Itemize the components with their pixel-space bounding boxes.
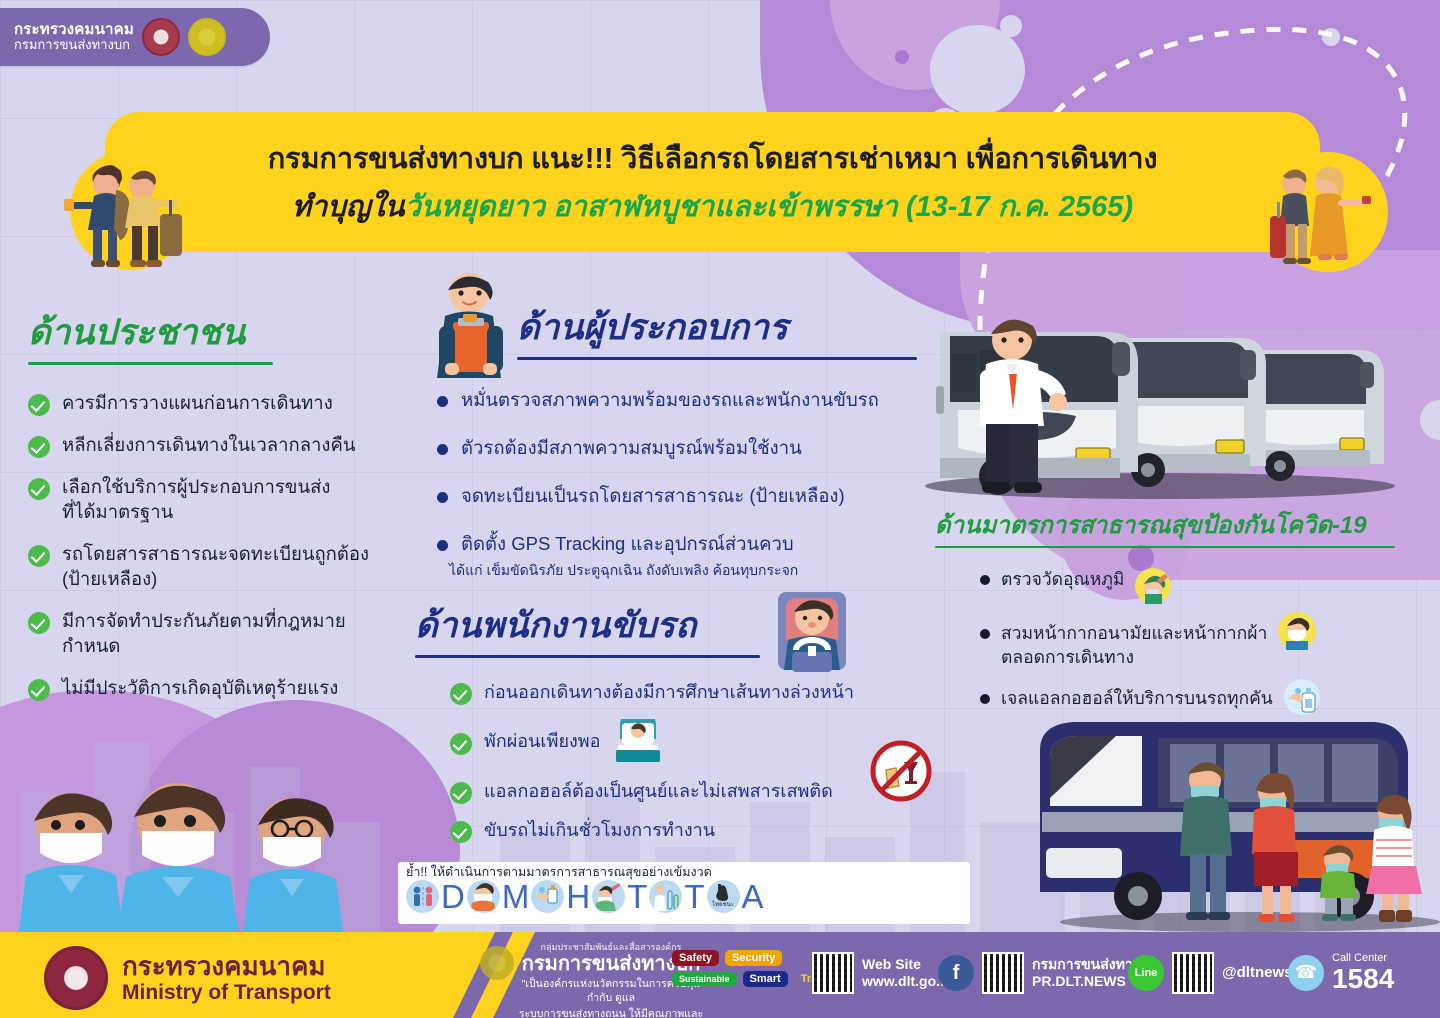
list-item-text: ไม่มีประวัติการเกิดอุบัติเหตุร้ายแรง	[62, 676, 338, 701]
check-icon	[450, 733, 472, 755]
no-alcohol-icon	[870, 740, 932, 802]
list-item: ติดตั้ง GPS Tracking และอุปกรณ์ส่วนควบ	[437, 532, 925, 556]
line-contact[interactable]: Line @dltnews	[1128, 952, 1292, 994]
temperature-check-icon	[1135, 568, 1171, 604]
tag-row-1: Safety Security	[672, 950, 812, 966]
department-seal-icon	[188, 18, 226, 56]
list-item-text: ก่อนออกเดินทางต้องมีการศึกษาเส้นทางล่วงห…	[484, 681, 854, 704]
section-operators-list: หมั่นตรวจสภาพความพร้อมของรถและพนักงานขับ…	[437, 388, 925, 556]
check-icon	[450, 821, 472, 843]
list-item-text: สวมหน้ากากอนามัยและหน้ากากผ้า ตลอดการเดิ…	[1001, 622, 1267, 669]
bullet-icon	[980, 694, 990, 704]
list-item-text: แอลกอฮอล์ต้องเป็นศูนย์และไม่เสพสารเสพติด	[484, 780, 833, 803]
handwash-icon	[531, 880, 564, 913]
dmhtta-letter-h: H	[566, 880, 590, 913]
check-icon	[28, 612, 50, 634]
section-operators: ด้านผู้ประกอบการ หมั่นตรวจสภาพความพร้อมข…	[425, 300, 925, 582]
dmhtta-letter-t1: T	[627, 880, 647, 913]
list-item-text: ตัวรถต้องมีสภาพความสมบูรณ์พร้อมใช้งาน	[461, 436, 802, 460]
department-name-th: กรมการขนส่งทางบก	[14, 38, 134, 53]
headline-line-2-black: ทำบุญใน	[292, 191, 405, 223]
list-item-text: รถโดยสารสาธารณะจดทะเบียนถูกต้อง (ป้ายเหล…	[62, 542, 369, 592]
list-item-text: ตรวจวัดอุณหภูมิ	[1001, 568, 1124, 592]
section-covid-underline	[935, 546, 1395, 548]
mask-icon	[467, 880, 500, 913]
sleep-rest-icon	[612, 719, 664, 765]
list-item-text: ขับรถไม่เกินชั่วโมงการทำงาน	[484, 819, 715, 842]
infographic-page: กระทรวงคมนาคม กรมการขนส่งทางบก กรมการขนส…	[0, 0, 1440, 1018]
section-citizens-underline	[28, 362, 273, 365]
list-item-text: เลือกใช้บริการผู้ประกอบการขนส่ง ที่ได้มา…	[62, 475, 330, 525]
bullet-icon	[437, 492, 448, 503]
list-item-text: หมั่นตรวจสภาพความพร้อมของรถและพนักงานขับ…	[461, 388, 879, 412]
section-drivers: ด้านพนักงานขับรถ ก่อนออกเดินทางต้องมีการ…	[415, 598, 955, 857]
dmhtta-letter-d: D	[441, 880, 465, 913]
list-item-text: จดทะเบียนเป็นรถโดยสารสาธารณะ (ป้ายเหลือง…	[461, 484, 845, 508]
section-covid-list: ตรวจวัดอุณหภูมิ สวมหน้ากากอนามัยและหน้าก…	[980, 568, 1415, 715]
website-contact[interactable]: Web Site www.dlt.go.th	[812, 952, 953, 994]
dlt-slogan-line-2: ระบบการขนส่งทางถนน ให้มีคุณภาพและปลอดภัย…	[516, 1007, 706, 1018]
dmhtta-letter-m: M	[502, 880, 530, 913]
list-item: ก่อนออกเดินทางต้องมีการศึกษาเส้นทางล่วงห…	[450, 680, 955, 705]
list-item: หลีกเลี่ยงการเดินทางในเวลากลางคืน	[28, 433, 408, 458]
bullet-icon	[980, 629, 990, 639]
list-item: จดทะเบียนเป็นรถโดยสารสาธารณะ (ป้ายเหลือง…	[437, 484, 925, 508]
check-icon	[28, 679, 50, 701]
list-item: ตรวจวัดอุณหภูมิ	[980, 568, 1415, 604]
dlt-seal-icon	[480, 946, 514, 980]
list-item-text: ติดตั้ง GPS Tracking และอุปกรณ์ส่วนควบ	[461, 532, 794, 556]
list-item: ควรมีการวางแผนก่อนการเดินทาง	[28, 391, 408, 416]
list-item: สวมหน้ากากอนามัยและหน้ากากผ้า ตลอดการเดิ…	[980, 622, 1415, 669]
section-citizens: ด้านประชาชน ควรมีการวางแผนก่อนการเดินทาง…	[28, 305, 408, 718]
tag-sustainable: Sustainable	[672, 972, 737, 986]
line-icon[interactable]: Line	[1128, 955, 1164, 991]
distancing-icon	[406, 880, 439, 913]
list-item: ขับรถไม่เกินชั่วโมงการทำงาน	[450, 818, 955, 843]
list-item: เลือกใช้บริการผู้ประกอบการขนส่ง ที่ได้มา…	[28, 475, 408, 525]
thaichana-label: ไทยชนะ	[712, 902, 734, 908]
tag-security: Security	[725, 950, 782, 966]
section-drivers-title: ด้านพนักงานขับรถ	[415, 598, 955, 653]
section-drivers-underline	[415, 655, 760, 658]
bullet-icon	[437, 444, 448, 455]
list-item: หมั่นตรวจสภาพความพร้อมของรถและพนักงานขับ…	[437, 388, 925, 412]
ministry-name-th: กระทรวงคมนาคม	[14, 21, 134, 38]
check-icon	[28, 436, 50, 458]
background-dot-c	[895, 50, 909, 64]
ministry-of-transport-block: กระทรวงคมนาคม Ministry of Transport	[44, 946, 331, 1010]
check-icon	[450, 782, 472, 804]
facebook-qr-code[interactable]	[982, 952, 1024, 994]
family-boarding-bus-illustration	[1020, 700, 1440, 940]
headline-banner: กรมการขนส่งทางบก แนะ!!! วิธีเลือกรถโดยสา…	[105, 112, 1320, 252]
operators-equipment-note: ได้แก่ เข็มขัดนิรภัย ประตูฉุกเฉิน ถังดับ…	[449, 560, 925, 582]
list-item: รถโดยสารสาธารณะจดทะเบียนถูกต้อง (ป้ายเหล…	[28, 542, 408, 592]
travellers-left-illustration	[38, 152, 188, 274]
list-item-text: ควรมีการวางแผนก่อนการเดินทาง	[62, 391, 333, 416]
thaichana-icon: ไทยชนะ	[707, 880, 740, 913]
section-citizens-title: ด้านประชาชน	[28, 305, 408, 360]
ministry-seal-large-icon	[44, 946, 108, 1010]
list-item: ไม่มีประวัติการเกิดอุบัติเหตุร้ายแรง	[28, 676, 408, 701]
testing-icon	[649, 880, 682, 913]
dlt-vision-tags: Safety Security Sustainable Smart Transp…	[672, 950, 812, 992]
list-item: ตัวรถต้องมีสภาพความสมบูรณ์พร้อมใช้งาน	[437, 436, 925, 460]
wear-mask-icon	[1278, 612, 1316, 650]
masked-people-illustration	[10, 775, 380, 940]
tag-row-2: Sustainable Smart Transport	[672, 971, 812, 987]
bullet-icon	[980, 575, 990, 585]
phone-icon: ☎	[1288, 955, 1324, 991]
ministry-seal-icon	[142, 18, 180, 56]
list-item-text: หลีกเลี่ยงการเดินทางในเวลากลางคืน	[62, 433, 356, 458]
bullet-icon	[437, 396, 448, 407]
check-icon	[28, 545, 50, 567]
facebook-contact[interactable]: f กรมการขนส่งทางบก PR.DLT.NEWS	[938, 952, 1157, 994]
bullet-icon	[437, 540, 448, 551]
dmhtta-letters-row: D M H T T ไทยชนะ A	[406, 880, 962, 913]
list-item: มีการจัดทำประกันภัยตามที่กฎหมาย กำหนด	[28, 609, 408, 659]
dmhtta-letter-a: A	[742, 880, 764, 913]
section-citizens-list: ควรมีการวางแผนก่อนการเดินทาง หลีกเลี่ยงก…	[28, 391, 408, 701]
line-id[interactable]: @dltnews	[1222, 964, 1292, 983]
line-qr-code[interactable]	[1172, 952, 1214, 994]
headline-line-2-green: วันหยุดยาว อาสาฬหบูชาและเข้าพรรษา (13-17…	[404, 191, 1133, 223]
website-qr-code[interactable]	[812, 952, 854, 994]
footer-ministry-en: Ministry of Transport	[122, 981, 331, 1004]
footer-ministry-th: กระทรวงคมนาคม	[122, 952, 331, 981]
section-operators-underline	[517, 357, 917, 360]
travellers-right-illustration	[1252, 158, 1392, 276]
headline-line-1: กรมการขนส่งทางบก แนะ!!! วิธีเลือกรถโดยสา…	[268, 135, 1158, 181]
facebook-icon[interactable]: f	[938, 955, 974, 991]
section-covid: ด้านมาตรการสาธารณสุขป้องกันโควิด-19 ตรวจ…	[935, 505, 1415, 733]
dmhtta-letter-t2: T	[684, 880, 704, 913]
tag-safety: Safety	[672, 950, 719, 966]
check-icon	[28, 478, 50, 500]
section-operators-title: ด้านผู้ประกอบการ	[425, 300, 925, 355]
list-item-text: พักผ่อนเพียงพอ	[484, 730, 600, 753]
headline-line-2: ทำบุญในวันหยุดยาว อาสาฬหบูชาและเข้าพรรษา…	[292, 183, 1133, 229]
thermometer-icon	[592, 880, 625, 913]
check-icon	[28, 394, 50, 416]
check-icon	[450, 683, 472, 705]
dmhtta-banner: ย้ำ!! ให้ดำเนินการตามมาตรการสาธารณสุขอย่…	[398, 862, 970, 924]
list-item-text: มีการจัดทำประกันภัยตามที่กฎหมาย กำหนด	[62, 609, 346, 659]
callcenter-number: 1584	[1332, 964, 1394, 993]
section-covid-title: ด้านมาตรการสาธารณสุขป้องกันโควิด-19	[935, 505, 1415, 544]
tag-smart: Smart	[743, 971, 788, 987]
callcenter-contact[interactable]: ☎ Call Center 1584	[1288, 952, 1394, 993]
bus-fleet-illustration	[900, 290, 1420, 510]
ministry-badge: กระทรวงคมนาคม กรมการขนส่งทางบก	[0, 8, 270, 66]
footer-bar: กระทรวงคมนาคม Ministry of Transport กลุ่…	[0, 932, 1440, 1018]
